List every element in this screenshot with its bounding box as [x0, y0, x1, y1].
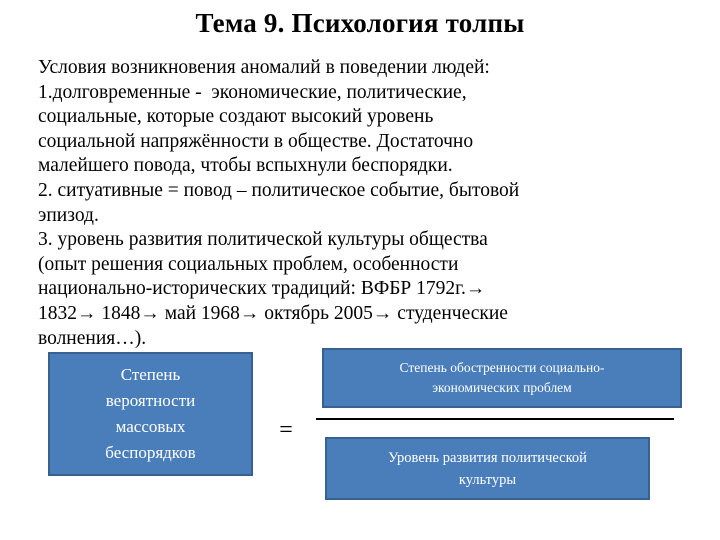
body-line: 3. уровень развития политической культур… — [38, 228, 702, 253]
diagram-box-denominator: Уровень развития политической культуры — [325, 437, 650, 500]
diagram-box-probability: Степень вероятности массовых беспорядков — [48, 352, 253, 476]
slide-canvas: Тема 9. Психология толпы Условия возникн… — [0, 0, 720, 540]
body-line: 2. ситуативные = повод – политическое со… — [38, 179, 702, 204]
diagram-box-probability-label: Степень вероятности массовых беспорядков — [97, 362, 203, 466]
body-line: Условия возникновения аномалий в поведен… — [38, 56, 702, 81]
diagram-box-numerator-label: Степень обостренности социально- экономи… — [392, 358, 613, 398]
diagram-box-denominator-label: Уровень развития политической культуры — [380, 447, 595, 491]
body-line: (опыт решения социальных проблем, особен… — [38, 253, 702, 278]
fraction-bar — [316, 418, 674, 420]
body-line: малейшего повода, чтобы вспыхнули беспор… — [38, 154, 702, 179]
equals-operator: = — [272, 416, 300, 444]
body-line: эпизод. — [38, 204, 702, 229]
page-title: Тема 9. Психология толпы — [40, 6, 680, 40]
body-line: национально-исторических традиций: ВФБР … — [38, 277, 702, 302]
body-text-block: Условия возникновения аномалий в поведен… — [38, 56, 702, 351]
body-line: 1832→ 1848→ май 1968→ октябрь 2005→ студ… — [38, 302, 702, 327]
body-line: 1.долговременные - экономические, полити… — [38, 81, 702, 106]
body-line: социальной напряжённости в обществе. Дос… — [38, 130, 702, 155]
diagram-box-numerator: Степень обостренности социально- экономи… — [322, 348, 682, 408]
body-line: социальные, которые создают высокий уров… — [38, 105, 702, 130]
